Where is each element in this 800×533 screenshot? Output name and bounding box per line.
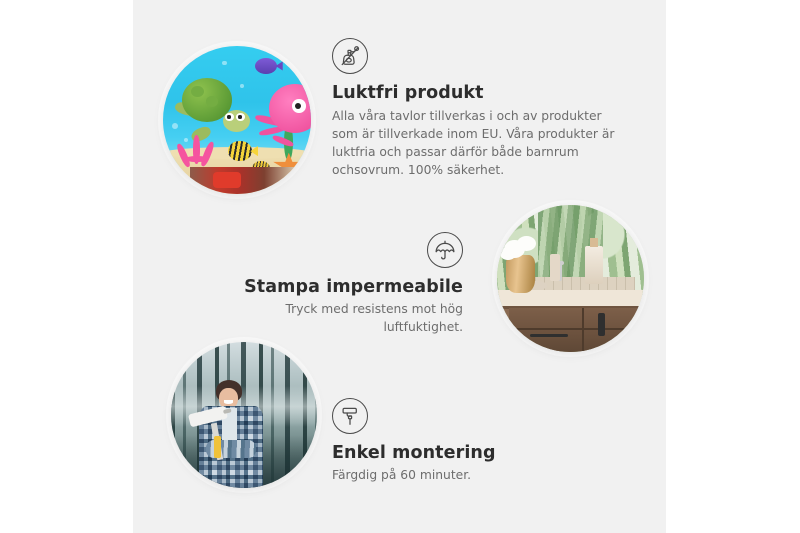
umbrella-icon <box>427 232 463 268</box>
feature-title: Enkel montering <box>332 443 582 463</box>
feature-title: Stampa impermeabile <box>215 277 463 297</box>
paint-roller-icon <box>332 398 368 434</box>
feature-title: Luktfri produkt <box>332 83 622 103</box>
feature-body: Färgdig på 60 minuter. <box>332 466 582 484</box>
turtle-graphic <box>178 76 246 135</box>
screenshot-root: Luktfri produkt Alla våra tavlor tillver… <box>0 0 800 533</box>
feature-body: Tryck med resistens mot hög luftfuktighe… <box>215 300 463 336</box>
product-photo-forest[interactable] <box>171 342 317 488</box>
no-fragrance-icon <box>332 38 368 74</box>
feature-odor-free: Luktfri produkt Alla våra tavlor tillver… <box>332 38 622 179</box>
feature-body: Alla våra tavlor tillverkas i och av pro… <box>332 107 622 179</box>
product-photo-underwater[interactable] <box>163 46 311 194</box>
octopus-graphic <box>255 84 311 146</box>
woman-with-roller <box>194 380 276 488</box>
feature-waterproof: Stampa impermeabile Tryck med resistens … <box>215 232 463 336</box>
product-photo-bathroom[interactable] <box>497 205 644 352</box>
feature-easy-mounting: Enkel montering Färgdig på 60 minuter. <box>332 398 582 484</box>
